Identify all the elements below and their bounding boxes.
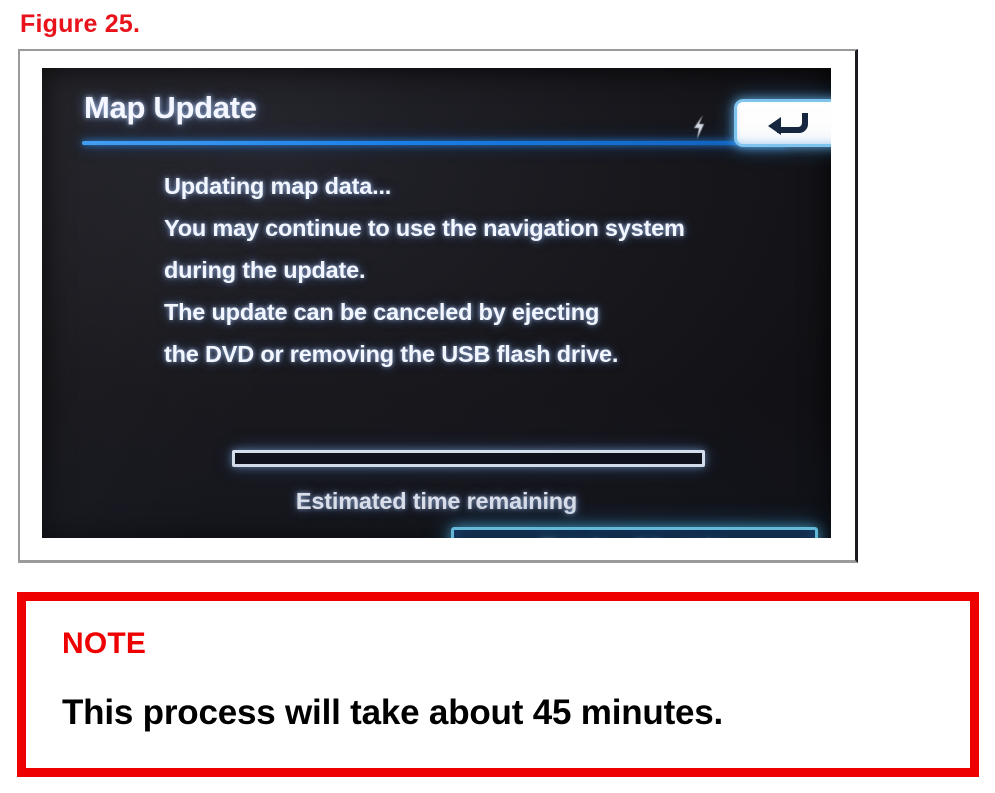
message-line: The update can be canceled by ejecting bbox=[164, 291, 804, 333]
total-time-value: Total: 44 min bbox=[540, 536, 729, 539]
message-line: the DVD or removing the USB flash drive. bbox=[164, 333, 804, 375]
figure-caption: Figure 25. bbox=[20, 12, 140, 37]
figure-image-frame: Map Update Updating map data... You may bbox=[18, 49, 858, 563]
note-callout: NOTE This process will take about 45 min… bbox=[17, 592, 979, 777]
screen-header: Map Update bbox=[42, 68, 831, 150]
note-title: NOTE bbox=[62, 629, 146, 659]
total-time-box: Total: 44 min bbox=[451, 527, 818, 538]
message-line: during the update. bbox=[164, 249, 804, 291]
title-underline bbox=[82, 141, 787, 145]
message-block: Updating map data... You may continue to… bbox=[164, 165, 804, 375]
back-arrow-icon bbox=[761, 107, 817, 139]
message-line: Updating map data... bbox=[164, 165, 804, 207]
estimated-time-label: Estimated time remaining bbox=[42, 488, 831, 515]
navigation-screen: Map Update Updating map data... You may bbox=[42, 68, 831, 538]
message-line: You may continue to use the navigation s… bbox=[164, 207, 804, 249]
note-text: This process will take about 45 minutes. bbox=[62, 695, 723, 730]
back-button[interactable] bbox=[734, 99, 831, 147]
page-title: Map Update bbox=[84, 90, 257, 126]
update-progress-bar bbox=[232, 450, 705, 467]
status-indicator-icon bbox=[690, 114, 712, 140]
